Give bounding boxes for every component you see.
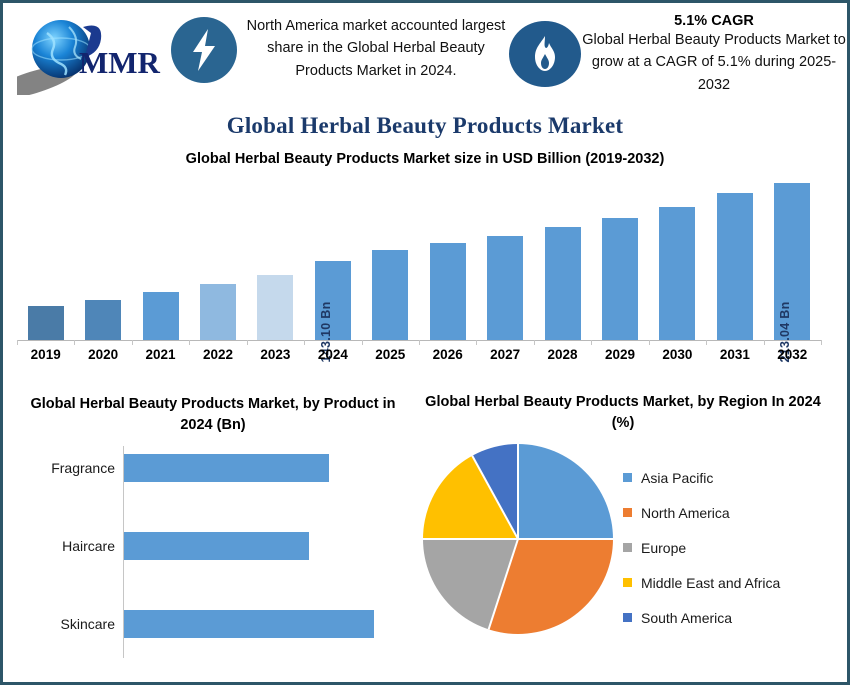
legend-item: South America: [623, 600, 843, 635]
axis-tick: [706, 340, 707, 345]
axis-label-year: 2020: [74, 347, 132, 362]
axis-label-year: 2027: [476, 347, 534, 362]
header-band: MMR North America market accounted large…: [3, 3, 847, 111]
axis-tick: [17, 340, 18, 345]
column-bar: [659, 207, 695, 340]
axis-label-year: 2032: [763, 347, 821, 362]
column-bar: [545, 227, 581, 340]
flame-icon: [509, 21, 581, 87]
pie-legend: Asia PacificNorth AmericaEuropeMiddle Ea…: [623, 460, 843, 635]
axis-tick: [189, 340, 190, 345]
column-bar-slot: [534, 175, 591, 340]
product-bar-label: Haircare: [3, 532, 115, 560]
axis-label-year: 2021: [132, 347, 190, 362]
column-bar: [602, 218, 638, 340]
product-bar-row: Skincare: [3, 610, 423, 638]
legend-item: Middle East and Africa: [623, 565, 843, 600]
column-bar: [143, 292, 179, 340]
column-bar: [487, 236, 523, 340]
bottom-charts-row: Global Herbal Beauty Products Market, by…: [3, 388, 847, 682]
axis-label-year: 2026: [419, 347, 477, 362]
axis-tick: [764, 340, 765, 345]
column-bar-slot: [476, 175, 533, 340]
column-bar: [717, 193, 753, 340]
legend-item: Europe: [623, 530, 843, 565]
column-bar: [85, 300, 121, 340]
legend-swatch: [623, 508, 632, 517]
globe-swoosh-logo: MMR: [17, 13, 167, 95]
legend-label: Middle East and Africa: [641, 575, 780, 591]
column-bar-slot: [419, 175, 476, 340]
axis-tick: [362, 340, 363, 345]
legend-item: Asia Pacific: [623, 460, 843, 495]
column-bar: [372, 250, 408, 340]
axis-label-year: 2028: [534, 347, 592, 362]
region-chart-title: Global Herbal Beauty Products Market, by…: [423, 392, 823, 434]
legend-swatch: [623, 613, 632, 622]
lightning-bolt-glyph: [189, 28, 219, 72]
product-bar: [124, 532, 309, 560]
axis-label-year: 2024: [304, 347, 362, 362]
column-bar-slot: [132, 175, 189, 340]
product-bar: [124, 454, 329, 482]
column-bar: [28, 306, 64, 340]
mmr-logo: MMR: [17, 13, 167, 95]
legend-item: North America: [623, 495, 843, 530]
axis-label-year: 2022: [189, 347, 247, 362]
product-bar-row: Fragrance: [3, 454, 423, 482]
flame-glyph: [531, 34, 559, 74]
region-pie-chart: Global Herbal Beauty Products Market, by…: [423, 388, 847, 682]
axis-label-year: 2023: [246, 347, 304, 362]
product-chart-title: Global Herbal Beauty Products Market, by…: [13, 394, 413, 436]
legend-swatch: [623, 543, 632, 552]
header-note-cagr: Global Herbal Beauty Products Market to …: [581, 29, 847, 96]
column-bar-slot: 143.10 Bn: [304, 175, 361, 340]
axis-tick: [649, 340, 650, 345]
svg-text:MMR: MMR: [79, 45, 161, 80]
header-note-north-america: North America market accounted largest s…: [243, 15, 509, 82]
market-size-column-chart: Global Herbal Beauty Products Market siz…: [3, 151, 847, 373]
infographic-canvas: MMR North America market accounted large…: [0, 0, 850, 685]
lightning-bolt-icon: [171, 17, 237, 83]
column-bar-slot: [649, 175, 706, 340]
pie-slice-separator: [471, 455, 519, 539]
axis-label-year: 2031: [706, 347, 764, 362]
legend-swatch: [623, 473, 632, 482]
column-bar: [430, 243, 466, 340]
page-title: Global Herbal Beauty Products Market: [3, 113, 847, 139]
product-bar-row: Haircare: [3, 532, 423, 560]
pie-slice-separator: [423, 538, 518, 540]
column-bar-slot: [247, 175, 304, 340]
column-bar-slot: [706, 175, 763, 340]
column-bar-slot: 213.04 Bn: [764, 175, 821, 340]
pie-slice-separator: [488, 539, 519, 630]
axis-label-year: 2030: [648, 347, 706, 362]
axis-tick: [821, 340, 822, 345]
column-bar: [200, 284, 236, 340]
legend-label: Asia Pacific: [641, 470, 713, 486]
axis-tick: [304, 340, 305, 345]
column-chart-title: Global Herbal Beauty Products Market siz…: [3, 151, 847, 167]
pie-slice-separator: [518, 538, 613, 540]
legend-label: South America: [641, 610, 732, 626]
column-bar-slot: [74, 175, 131, 340]
column-chart-plot: 143.10 Bn213.04 Bn: [17, 175, 833, 340]
column-bar: 213.04 Bn: [774, 183, 810, 340]
product-bar-chart: Global Herbal Beauty Products Market, by…: [3, 388, 423, 682]
product-bar: [124, 610, 374, 638]
column-bar-slot: [189, 175, 246, 340]
product-bar-label: Skincare: [3, 610, 115, 638]
axis-tick: [419, 340, 420, 345]
legend-swatch: [623, 578, 632, 587]
product-bar-label: Fragrance: [3, 454, 115, 482]
axis-tick: [534, 340, 535, 345]
axis-label-year: 2025: [361, 347, 419, 362]
column-bar-slot: [362, 175, 419, 340]
axis-tick: [132, 340, 133, 345]
legend-label: Europe: [641, 540, 686, 556]
axis-tick: [247, 340, 248, 345]
legend-label: North America: [641, 505, 730, 521]
product-chart-plot: FragranceHaircareSkincare: [3, 446, 423, 672]
column-bar-slot: [591, 175, 648, 340]
axis-tick: [476, 340, 477, 345]
axis-tick: [74, 340, 75, 345]
column-bar-slot: [17, 175, 74, 340]
axis-label-year: 2029: [591, 347, 649, 362]
axis-label-year: 2019: [17, 347, 75, 362]
column-bar: 143.10 Bn: [315, 261, 351, 340]
pie-slice-separator: [517, 444, 519, 539]
cagr-value: 5.1% CAGR: [581, 13, 847, 29]
axis-tick: [591, 340, 592, 345]
pie-graphic: [423, 444, 613, 634]
column-bar: [257, 275, 293, 340]
